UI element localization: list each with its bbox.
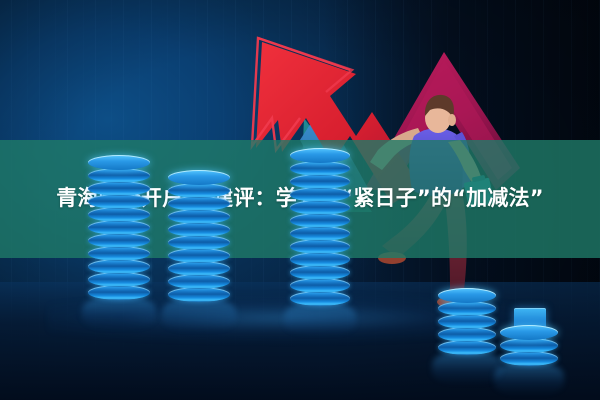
coin xyxy=(168,287,230,302)
coin xyxy=(290,265,350,280)
coin xyxy=(500,351,558,366)
coin xyxy=(88,168,150,183)
coin xyxy=(290,252,350,267)
coin xyxy=(290,148,350,163)
coin xyxy=(168,274,230,289)
coin xyxy=(168,209,230,224)
coin xyxy=(290,278,350,293)
coin xyxy=(168,261,230,276)
coin xyxy=(88,272,150,287)
coin xyxy=(88,220,150,235)
image-canvas: 青海配资开户 党建评：学会过“紧日子”的“加减法” xyxy=(0,0,600,400)
coin xyxy=(500,325,558,340)
coin xyxy=(88,233,150,248)
coin xyxy=(500,338,558,353)
coin xyxy=(290,291,350,306)
coin xyxy=(88,246,150,261)
coin xyxy=(438,288,496,303)
coin xyxy=(168,196,230,211)
coin xyxy=(438,340,496,355)
coin xyxy=(290,239,350,254)
coin xyxy=(290,161,350,176)
coin xyxy=(290,174,350,189)
coin xyxy=(438,327,496,342)
coin xyxy=(88,207,150,222)
coin xyxy=(438,301,496,316)
coin xyxy=(168,235,230,250)
coin xyxy=(88,194,150,209)
coin xyxy=(290,213,350,228)
coin xyxy=(88,259,150,274)
coin xyxy=(290,187,350,202)
coin xyxy=(88,155,150,170)
coin xyxy=(168,170,230,185)
person-head xyxy=(425,95,456,133)
coin xyxy=(168,222,230,237)
coin xyxy=(290,200,350,215)
coin xyxy=(88,181,150,196)
coin xyxy=(168,183,230,198)
coin xyxy=(290,226,350,241)
coin xyxy=(88,285,150,300)
coin xyxy=(168,248,230,263)
coin xyxy=(438,314,496,329)
